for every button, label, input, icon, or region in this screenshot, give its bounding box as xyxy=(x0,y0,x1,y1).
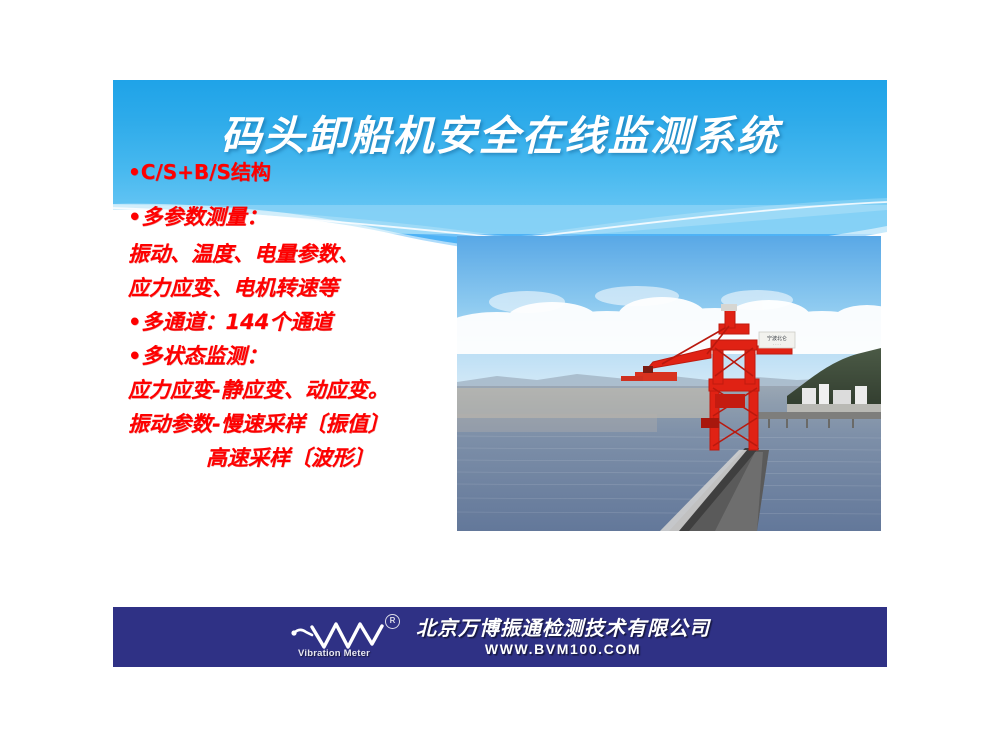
footer-bar: Vibration Meter R 北京万博振通检测技术有限公司 WWW.BVM… xyxy=(113,607,887,667)
svg-text:宁波北仑: 宁波北仑 xyxy=(767,335,787,342)
bullet-item-5: •多状态监测： xyxy=(128,346,473,367)
bullet-item-3: 应力应变、电机转速等 xyxy=(128,278,473,299)
bullet-item-8: 高速采样〔波形〕 xyxy=(128,448,473,469)
footer-company-block: 北京万博振通检测技术有限公司 WWW.BVM100.COM xyxy=(416,618,710,656)
bullet-item-4: •多通道：144个通道 xyxy=(128,312,473,333)
bullet-item-2: 振动、温度、电量参数、 xyxy=(128,244,473,265)
logo-caption: Vibration Meter xyxy=(298,648,370,659)
slide-title: 码头卸船机安全在线监测系统 xyxy=(113,102,887,162)
bullet-item-1: •多参数测量： xyxy=(128,207,473,228)
bullet-item-0: •C/S+B/S结构 xyxy=(128,162,473,182)
slide-canvas: 码头卸船机安全在线监测系统 •C/S+B/S结构 •多参数测量： 振动、温度、电… xyxy=(0,0,1000,750)
company-name: 北京万博振通检测技术有限公司 xyxy=(416,618,710,638)
bullet-item-6: 应力应变-静应变、动应变。 xyxy=(128,380,473,401)
bullet-item-7: 振动参数-慢速采样〔振值〕 xyxy=(128,414,473,435)
bullet-list: •C/S+B/S结构 •多参数测量： 振动、温度、电量参数、 应力应变、电机转速… xyxy=(128,162,473,482)
svg-text:· · · ·: · · · · xyxy=(773,343,781,347)
harbor-crane-photo: 宁波北仑 · · · · xyxy=(457,236,881,531)
slide-body: 码头卸船机安全在线监测系统 •C/S+B/S结构 •多参数测量： 振动、温度、电… xyxy=(113,80,887,600)
company-url[interactable]: WWW.BVM100.COM xyxy=(485,642,641,656)
vibration-meter-logo: Vibration Meter R xyxy=(290,614,402,660)
registered-trademark-icon: R xyxy=(385,614,400,629)
